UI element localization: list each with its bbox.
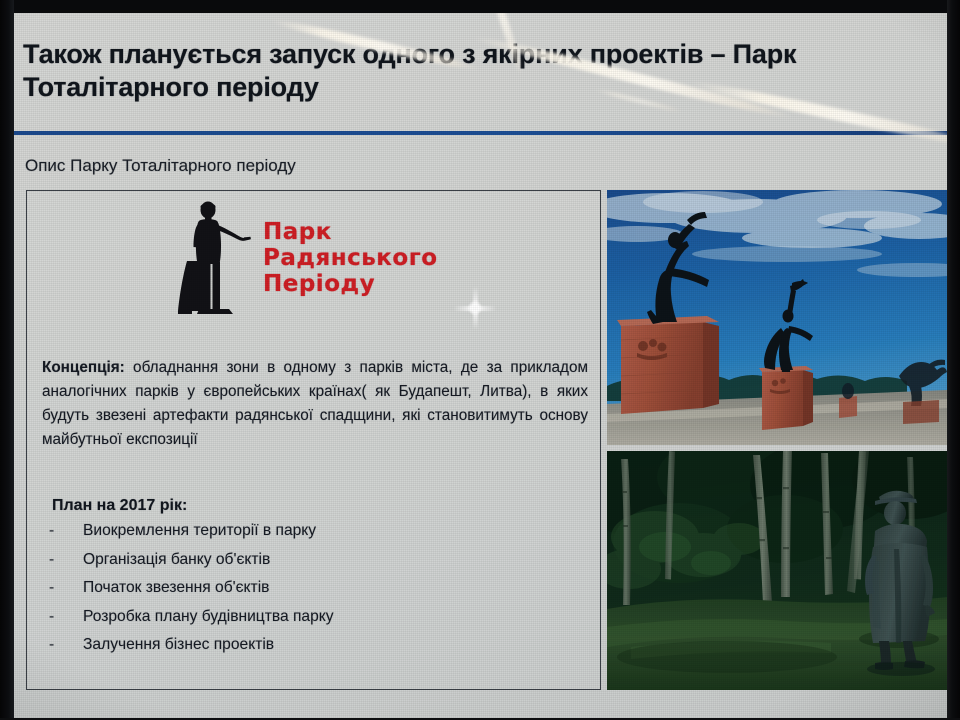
- list-item-label: Організація банку об'єктів: [83, 552, 270, 568]
- screen-photograph: Також планується запуск одного з якірних…: [0, 0, 960, 720]
- logo-line-3: Періоду: [263, 272, 438, 298]
- presentation-slide: Також планується запуск одного з якірних…: [13, 12, 947, 720]
- bullet-marker: -: [49, 580, 83, 596]
- bullet-marker: -: [49, 523, 83, 539]
- slide-subtitle: Опис Парку Тоталітарного періоду: [25, 156, 296, 176]
- plan-list: -Виокремлення території в парку -Організ…: [49, 523, 569, 666]
- concept-paragraph: Концепція: обладнання зони в одному з па…: [42, 356, 588, 451]
- content-box: Парк Радянського Періоду Концепція: обла…: [26, 190, 601, 690]
- screen-bezel-left: [0, 0, 14, 720]
- forest-statue-illustration: [607, 451, 947, 690]
- lenin-statue-silhouette-icon: [177, 199, 253, 319]
- bullet-marker: -: [49, 552, 83, 568]
- logo-line-1: Парк: [263, 220, 438, 246]
- statue-park-illustration: [607, 190, 947, 445]
- list-item: -Початок звезення об'єктів: [49, 580, 569, 596]
- list-item: -Виокремлення території в парку: [49, 523, 569, 539]
- forest-statue-photo: [607, 451, 947, 690]
- bullet-marker: -: [49, 637, 83, 653]
- list-item-label: Початок звезення об'єктів: [83, 580, 269, 596]
- concept-label: Концепція:: [42, 359, 125, 376]
- logo-line-2: Радянського: [263, 246, 438, 272]
- park-logo-wordmark: Парк Радянського Періоду: [263, 220, 438, 297]
- list-item-label: Розробка плану будівництва парку: [83, 609, 334, 625]
- list-item: -Організація банку об'єктів: [49, 552, 569, 568]
- title-divider-rule: [13, 131, 947, 135]
- statue-park-blue-sky-photo: [607, 190, 947, 445]
- park-logo: Парк Радянського Періоду: [177, 199, 438, 319]
- title-area: Також планується запуск одного з якірних…: [13, 38, 947, 104]
- list-item: -Розробка плану будівництва парку: [49, 609, 569, 625]
- page-title: Також планується запуск одного з якірних…: [23, 38, 925, 104]
- plan-heading: План на 2017 рік:: [52, 497, 187, 515]
- photo-column: [607, 190, 947, 690]
- bullet-marker: -: [49, 609, 83, 625]
- concept-text: обладнання зони в одному з парків міста,…: [42, 359, 588, 448]
- screen-bezel-right: [947, 0, 960, 720]
- list-item-label: Залучення бізнес проектів: [83, 637, 274, 653]
- list-item: -Залучення бізнес проектів: [49, 637, 569, 653]
- list-item-label: Виокремлення території в парку: [83, 523, 316, 539]
- screen-bezel-top: [0, 0, 960, 13]
